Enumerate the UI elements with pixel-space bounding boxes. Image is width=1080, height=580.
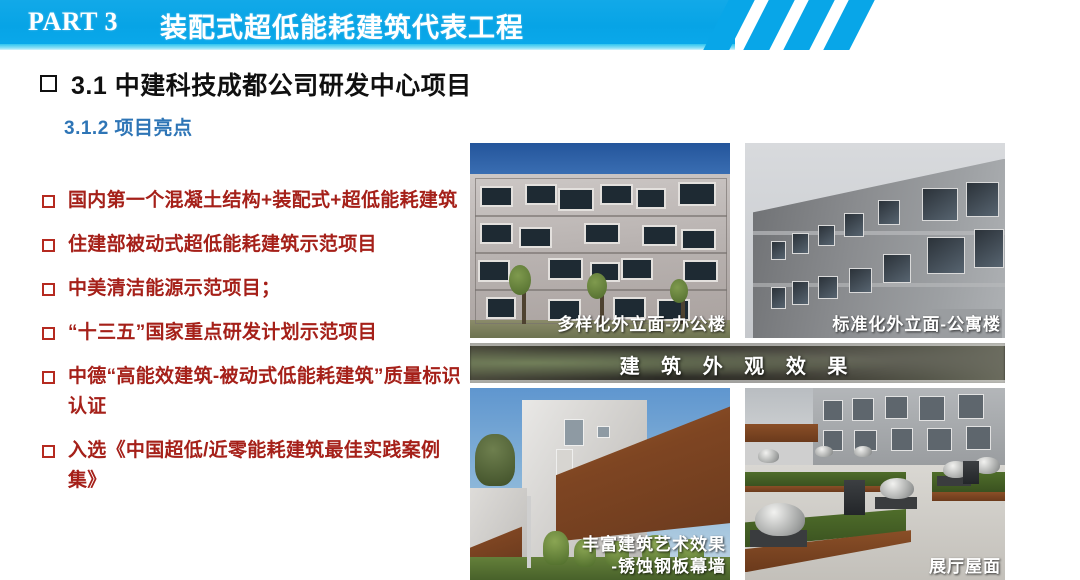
square-bullet-icon [42, 327, 55, 340]
square-bullet-icon [42, 371, 55, 384]
list-item: 中德“高能效建筑-被动式低能耗建筑”质量标识认证 [42, 362, 462, 422]
bullet-list: 国内第一个混凝土结构+装配式+超低能耗建筑 住建部被动式超低能耗建筑示范项目 中… [42, 186, 462, 510]
square-bullet-icon [42, 445, 55, 458]
list-item-label: 住建部被动式超低能耗建筑示范项目 [68, 234, 377, 255]
square-bullet-icon [42, 239, 55, 252]
skylight-dome [755, 503, 804, 536]
square-bullet-icon [42, 283, 55, 296]
skylight-dome [854, 446, 872, 458]
list-item: 中美清洁能源示范项目； [42, 274, 462, 304]
photo-grid: 多样化外立面-办公楼 标准化外立面-公寓楼 建 筑 外 观 效 果 [470, 143, 1005, 580]
part-label: PART 3 [28, 7, 118, 37]
trash-bin [963, 461, 979, 484]
list-item-label: 中美清洁能源示范项目； [68, 278, 280, 299]
list-item: 住建部被动式超低能耗建筑示范项目 [42, 230, 462, 260]
photo-standard-facade-apartment: 标准化外立面-公寓楼 [745, 143, 1005, 338]
skylight-dome [758, 449, 779, 462]
trash-bin [844, 480, 865, 515]
square-bullet-icon [42, 195, 55, 208]
list-item-label: 国内第一个混凝土结构+装配式+超低能耗建筑 [68, 190, 458, 211]
skylight-dome [815, 446, 833, 458]
photo-corten-steel-curtain-wall: 丰富建筑艺术效果 -锈蚀钢板幕墙 [470, 388, 730, 580]
photo-caption: 展厅屋面 [929, 556, 1001, 578]
slide-header: PART 3 装配式超低能耗建筑代表工程 [0, 0, 1080, 50]
photo-caption: 标准化外立面-公寓楼 [832, 314, 1001, 336]
photo-exhibition-hall-roof: 展厅屋面 [745, 388, 1005, 580]
banner-top-line [470, 343, 1005, 346]
list-item-label: “十三五”国家重点研发计划示范项目 [68, 322, 377, 343]
list-item: 国内第一个混凝土结构+装配式+超低能耗建筑 [42, 186, 462, 216]
list-item: “十三五”国家重点研发计划示范项目 [42, 318, 462, 348]
photo-caption-line-2: -锈蚀钢板幕墙 [582, 556, 726, 578]
list-item-label: 中德“高能效建筑-被动式低能耗建筑”质量标识认证 [68, 366, 461, 417]
header-title: 装配式超低能耗建筑代表工程 [160, 6, 524, 45]
photo-diverse-facade-office: 多样化外立面-办公楼 [470, 143, 730, 338]
header-diagonal-stripes [700, 0, 880, 50]
list-item-label: 入选《中国超低/近零能耗建筑最佳实践案例集》 [68, 440, 440, 491]
page-title-text: 3.1 中建科技成都公司研发中心项目 [71, 72, 472, 100]
square-bullet-icon [40, 75, 57, 92]
photo-section-banner: 建 筑 外 观 效 果 [470, 343, 1005, 383]
banner-text: 建 筑 外 观 效 果 [470, 350, 1005, 379]
skylight-dome [880, 478, 914, 499]
photo-caption-line-1: 丰富建筑艺术效果 [582, 534, 726, 556]
list-item: 入选《中国超低/近零能耗建筑最佳实践案例集》 [42, 436, 462, 496]
banner-bottom-line [470, 380, 1005, 383]
photo-caption: 丰富建筑艺术效果 -锈蚀钢板幕墙 [582, 534, 726, 578]
sub-heading: 3.1.2 项目亮点 [64, 113, 193, 140]
photo-caption: 多样化外立面-办公楼 [557, 314, 726, 336]
page-title: 3.1 中建科技成都公司研发中心项目 [40, 66, 472, 102]
